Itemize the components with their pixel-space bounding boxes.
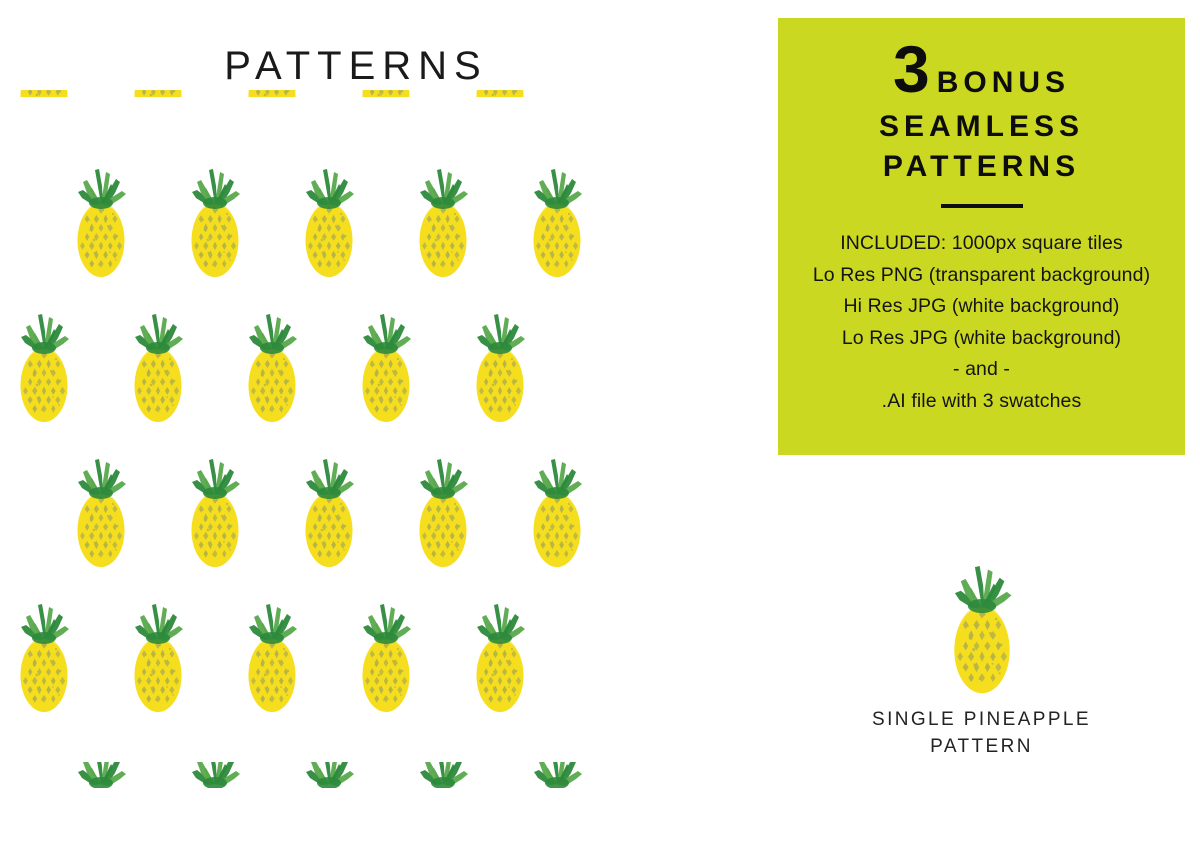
- pineapple-motif: [472, 595, 528, 703]
- single-pineapple-motif: [949, 555, 1015, 683]
- pineapple-motif-partial-top: [358, 15, 414, 123]
- card-heading: 3 BONUS SEAMLESS PATTERNS: [778, 18, 1185, 182]
- card-heading-bonus-label: BONUS: [937, 68, 1070, 98]
- card-heading-line-1: 3 BONUS: [778, 36, 1185, 102]
- pineapple-motif-partial-top: [16, 15, 72, 123]
- pineapple-motif-partial-top: [472, 15, 528, 123]
- bonus-info-card: 3 BONUS SEAMLESS PATTERNS INCLUDED: 1000…: [778, 18, 1185, 455]
- pineapple-motif-partial-top: [130, 15, 186, 123]
- included-file-line: Lo Res PNG (transparent background): [778, 260, 1185, 292]
- pineapple-motif: [415, 450, 471, 558]
- pineapple-motif: [529, 160, 585, 268]
- included-file-line: INCLUDED: 1000px square tiles: [778, 228, 1185, 260]
- horizontal-rule-divider: [941, 204, 1023, 208]
- pineapple-motif: [130, 595, 186, 703]
- pineapple-motif: [16, 305, 72, 413]
- card-heading-count: 3: [893, 36, 930, 102]
- pineapple-motif: [73, 160, 129, 268]
- pineapple-motif: [472, 305, 528, 413]
- pineapple-crown-partial-bottom: [187, 740, 243, 848]
- pineapple-motif: [358, 595, 414, 703]
- included-file-line: - and -: [778, 354, 1185, 386]
- pineapple-motif: [358, 305, 414, 413]
- pineapple-motif: [244, 305, 300, 413]
- pattern-preview-canvas: [0, 110, 720, 780]
- single-pattern-sample: SINGLE PINEAPPLE PATTERN: [778, 555, 1185, 785]
- pineapple-motif: [73, 450, 129, 558]
- card-heading-line-3: PATTERNS: [778, 152, 1185, 182]
- pineapple-motif: [244, 595, 300, 703]
- pineapple-crown-partial-bottom: [415, 740, 471, 848]
- pineapple-motif: [301, 450, 357, 558]
- pineapple-crown-partial-bottom: [73, 740, 129, 848]
- pineapple-motif: [301, 160, 357, 268]
- pineapple-motif-partial-top: [244, 15, 300, 123]
- included-file-line: Lo Res JPG (white background): [778, 323, 1185, 355]
- pineapple-motif: [187, 160, 243, 268]
- pineapple-motif: [16, 595, 72, 703]
- pineapple-crown-partial-bottom: [529, 740, 585, 848]
- page-title: PATTERNS: [0, 44, 712, 89]
- single-pattern-caption: SINGLE PINEAPPLE PATTERN: [778, 707, 1185, 761]
- pineapple-crown-partial-bottom: [301, 740, 357, 848]
- included-files-list: INCLUDED: 1000px square tilesLo Res PNG …: [778, 228, 1185, 417]
- card-heading-line-2: SEAMLESS: [778, 112, 1185, 142]
- pineapple-motif: [529, 450, 585, 558]
- single-pattern-caption-line-2: PATTERN: [778, 734, 1185, 761]
- pineapple-motif: [187, 450, 243, 558]
- included-file-line: .AI file with 3 swatches: [778, 386, 1185, 418]
- pineapple-motif: [130, 305, 186, 413]
- included-file-line: Hi Res JPG (white background): [778, 291, 1185, 323]
- single-pattern-caption-line-1: SINGLE PINEAPPLE: [778, 707, 1185, 734]
- pineapple-motif: [415, 160, 471, 268]
